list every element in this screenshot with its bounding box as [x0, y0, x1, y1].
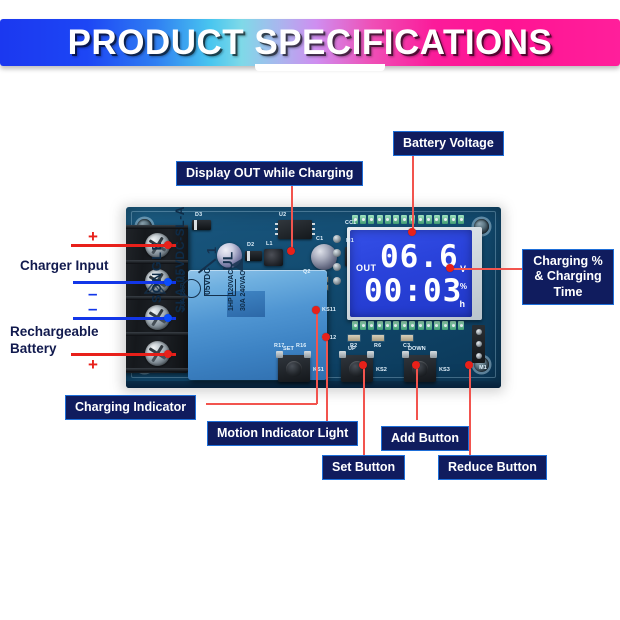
silk-lcd1: CC1 [345, 220, 356, 226]
leader-add-button [416, 365, 418, 420]
lcd-unit-percent: % [460, 282, 467, 291]
lcd-time-value: 00:03 [364, 273, 462, 309]
callout-add-button[interactable]: Add Button [381, 426, 469, 451]
header-notch [255, 64, 385, 71]
silk-set: SET [283, 346, 294, 352]
leader-dot-display-out [287, 247, 295, 255]
leader-dot-add-button [412, 361, 420, 369]
set-button-cap[interactable] [286, 361, 302, 377]
leader-charging-indicator-v [316, 310, 318, 404]
relay-contact-circle [182, 279, 201, 298]
silk-r16: R16 [296, 343, 307, 349]
lcd-pin-header-top [352, 215, 464, 224]
terminal-dot-1 [164, 241, 172, 249]
resistor-r6 [372, 335, 384, 341]
resistor-r2 [348, 335, 360, 341]
silk-u2: U2 [279, 212, 286, 218]
via-pad [333, 249, 341, 257]
silk-q2: Q2 [303, 269, 311, 275]
page-title: PRODUCT SPECIFICATIONS [0, 19, 620, 66]
callout-motion-indicator[interactable]: Motion Indicator Light [207, 421, 358, 446]
silk-d2: D2 [247, 242, 254, 248]
leader-reduce-button [469, 365, 471, 455]
lcd-out-indicator: OUT [356, 263, 377, 273]
callout-battery-voltage[interactable]: Battery Voltage [393, 131, 504, 156]
terminal-line-1 [71, 244, 176, 247]
silk-up: UP [348, 346, 356, 352]
leader-dot-motion-indicator [322, 333, 330, 341]
terminal-sign-4: + [88, 356, 98, 373]
relay-triangle-mark [231, 258, 243, 272]
silk-ks3: KS3 [439, 367, 450, 373]
leader-dot-reduce-button [465, 361, 473, 369]
silk-ks1: KS1 [313, 367, 324, 373]
leader-dot-set-button [359, 361, 367, 369]
silk-m1: M1 [479, 365, 487, 371]
ic-u2 [278, 220, 312, 239]
callout-charging-indicator[interactable]: Charging Indicator [65, 395, 196, 420]
relay-schematic-box [204, 279, 236, 296]
terminal-sign-3: – [88, 300, 97, 317]
via-pad [333, 235, 341, 243]
leader-display-out [291, 185, 293, 250]
capacitor-c3 [401, 335, 413, 341]
leader-dot-charging-pct [446, 264, 454, 272]
leader-dot-battery-voltage [408, 228, 416, 236]
silk-d3: D3 [195, 212, 202, 218]
callout-rechargeable-battery: Rechargeable Battery [10, 324, 130, 358]
diode-d3 [192, 220, 211, 230]
lcd-pin-header-bottom [352, 321, 464, 330]
add-button-hardware[interactable] [341, 355, 373, 382]
leader-charging-pct [450, 268, 525, 270]
leader-set-button [363, 365, 365, 455]
pcb-board: D3 D2 L1 U2 C1 M1 Q2 SONGLE SLA-05VDC-SL… [126, 207, 501, 388]
via-pad [333, 263, 341, 271]
button-leg [304, 351, 311, 358]
button-leg [276, 351, 283, 358]
terminal-dot-2 [164, 278, 172, 286]
page-header: PRODUCT SPECIFICATIONS [0, 19, 620, 66]
silk-ks2: KS2 [376, 367, 387, 373]
silk-r6: R6 [374, 343, 381, 349]
button-leg [367, 351, 374, 358]
callout-display-out[interactable]: Display OUT while Charging [176, 161, 363, 186]
silk-down: DOWN [408, 346, 426, 352]
callout-set-button[interactable]: Set Button [322, 455, 405, 480]
leader-charging-indicator-h [206, 403, 317, 405]
output-pin-header [472, 325, 485, 363]
set-button-hardware[interactable] [278, 355, 310, 382]
via-pad [333, 277, 341, 285]
relay-rating-d: 30A 240VAC [240, 271, 247, 311]
relay-mark-number: 1 [204, 247, 219, 254]
diode-d2 [245, 251, 262, 261]
callout-reduce-button[interactable]: Reduce Button [438, 455, 547, 480]
silk-l1: L1 [266, 241, 273, 247]
inductor-l1 [264, 249, 283, 266]
callout-charging-pct-time[interactable]: Charging % & Charging Time [522, 249, 614, 305]
silk-c1: C1 [316, 236, 323, 242]
lcd-unit-hour: h [460, 299, 466, 309]
button-leg [430, 351, 437, 358]
leader-dot-charging-indicator [312, 306, 320, 314]
terminal-dot-4 [164, 350, 172, 358]
leader-battery-voltage [412, 152, 414, 232]
silk-m: M1 [346, 238, 354, 244]
reduce-button-hardware[interactable] [404, 355, 436, 382]
button-leg [339, 351, 346, 358]
button-leg [402, 351, 409, 358]
callout-charger-input: Charger Input [20, 258, 109, 275]
terminal-dot-3 [164, 314, 172, 322]
leader-motion-indicator [326, 337, 328, 422]
board-bottom-edge [126, 381, 501, 388]
lcd-display: OUT 06.6 00:03 V % h [350, 230, 472, 317]
terminal-sign-1: + [88, 228, 98, 245]
silk-ks11: KS11 [322, 307, 336, 313]
